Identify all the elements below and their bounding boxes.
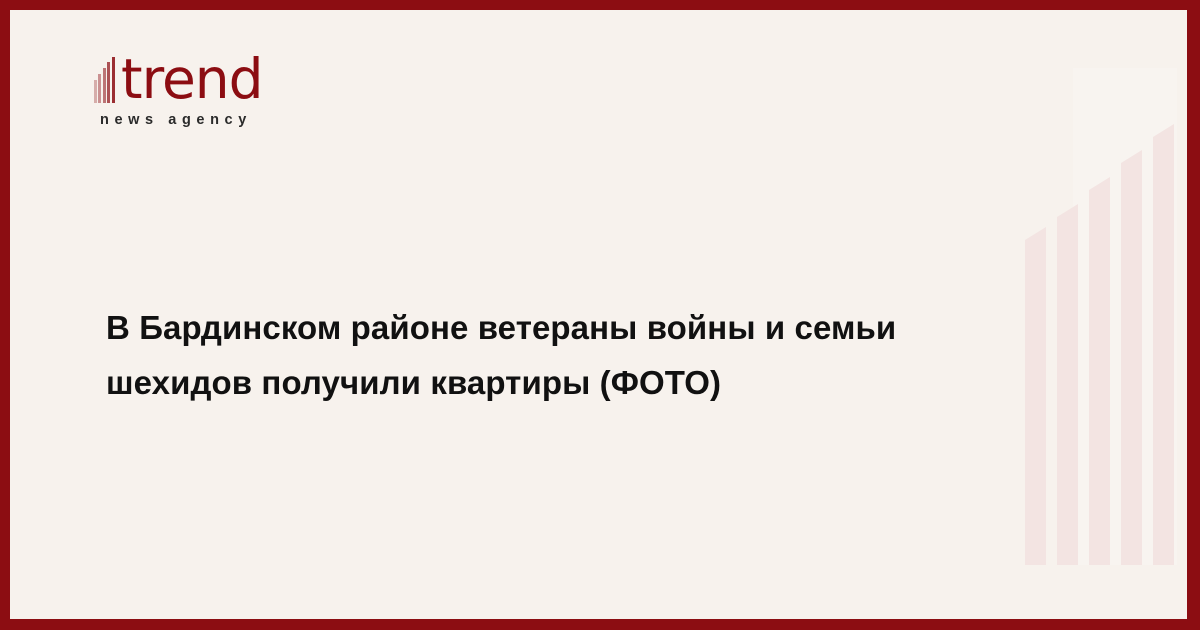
logo-wordmark: trend	[121, 53, 263, 105]
watermark-bar-4	[1121, 163, 1142, 565]
brand-logo[interactable]: trend news agency	[94, 45, 354, 128]
logo-mark-bar-2	[98, 74, 101, 103]
article-headline: В Бардинском районе ветераны войны и сем…	[106, 300, 1036, 410]
logo-mark-bar-1	[94, 80, 97, 103]
watermark-bar-2	[1057, 217, 1078, 565]
logo-mark-bar-4	[107, 62, 110, 103]
logo-mark-bar-3	[103, 68, 106, 103]
logo-tagline: news agency	[100, 112, 354, 128]
ascending-bars-watermark	[1011, 58, 1181, 603]
ascending-bars-mark-icon	[94, 55, 120, 103]
logo-row: trend	[94, 45, 354, 105]
watermark-bar-3	[1089, 190, 1110, 565]
watermark-panel	[1073, 68, 1177, 565]
logo-mark-bar-5	[112, 57, 115, 103]
card-canvas: trend news agency В Бардинском районе ве…	[10, 10, 1187, 619]
share-card: trend news agency В Бардинском районе ве…	[0, 0, 1200, 630]
watermark-bar-5	[1153, 137, 1174, 565]
